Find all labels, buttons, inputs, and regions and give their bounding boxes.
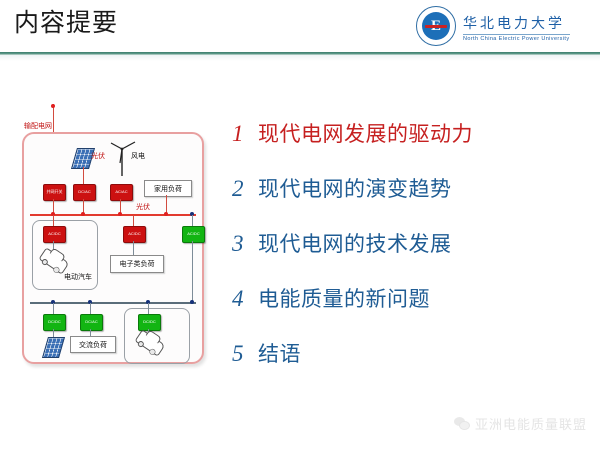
grid-feeder-node [51, 104, 55, 108]
ev-dc-uplink [148, 303, 149, 314]
agenda-label: 现代电网发展的驱动力 [258, 118, 473, 148]
agenda-label: 电能质量的新问题 [258, 283, 430, 313]
electronic-load-uplink [133, 215, 134, 226]
converter-dc-ac-load[interactable]: DC/AC [80, 314, 103, 331]
ev-label: 电动汽车 [64, 272, 92, 282]
converter-dc-dc-pv[interactable]: DC/DC [43, 314, 66, 331]
converter-ac-dc-tie[interactable]: AC/DC [182, 226, 205, 243]
agenda-label: 现代电网的演变趋势 [258, 173, 452, 203]
agenda-label: 结语 [258, 338, 301, 368]
electronic-load-box: 电子类负荷 [110, 255, 164, 273]
agenda-item-1[interactable]: 1 现代电网发展的驱动力 [232, 118, 562, 173]
agenda-label: 现代电网的技术发展 [258, 228, 452, 258]
university-name-en: North China Electric Power University [463, 34, 570, 42]
watermark-text: 亚洲电能质量联盟 [475, 414, 587, 433]
page-title: 内容提要 [14, 8, 118, 38]
agenda-item-2[interactable]: 2 现代电网的演变趋势 [232, 173, 562, 228]
home-load-box: 家用负荷 [144, 180, 192, 197]
watermark: 亚洲电能质量联盟 [454, 414, 587, 433]
pv-label-top: 光伏 [91, 151, 105, 161]
agenda-number: 5 [232, 341, 258, 367]
pv-dc-uplink [53, 303, 54, 314]
ac-bus-node [164, 212, 168, 216]
wind-label: 风电 [131, 151, 145, 161]
pv-label-bus: 光伏 [136, 202, 150, 212]
ac-load-wire [90, 329, 91, 336]
agenda-number: 4 [232, 286, 258, 312]
agenda-item-3[interactable]: 3 现代电网的技术发展 [232, 228, 562, 283]
ac-bus-node [81, 212, 85, 216]
university-name-block: 华北电力大学 North China Electric Power Univer… [463, 13, 570, 42]
dc-bus-node [190, 300, 194, 304]
pv-to-converter-wire [83, 167, 84, 184]
agenda-list: 1 现代电网发展的驱动力 2 现代电网的演变趋势 3 现代电网的技术发展 4 电… [232, 118, 562, 393]
ev-ac-uplink [53, 215, 54, 226]
emblem-red-bar [425, 25, 447, 28]
ac-dc-tie-downlink [192, 241, 193, 303]
university-emblem-icon: E [416, 6, 458, 48]
agenda-number: 3 [232, 231, 258, 257]
ac-load-box: 交流负荷 [70, 336, 116, 353]
microgrid-diagram: 输配电网 光伏 风电 并网开关 DC/AC AC/AC 家用负荷 光伏 AC/D… [18, 104, 214, 372]
grid-label: 输配电网 [24, 121, 52, 131]
agenda-number: 2 [232, 176, 258, 202]
pv-dc-wire [53, 329, 54, 337]
converter-ac-dc-electronic[interactable]: AC/DC [123, 226, 146, 243]
agenda-item-5[interactable]: 5 结语 [232, 338, 562, 393]
agenda-number: 1 [232, 121, 258, 147]
converter-grid-switch[interactable]: 并网开关 [43, 184, 66, 201]
converter-ac-dc-ev[interactable]: AC/DC [43, 226, 66, 243]
ac-dc-tie-uplink [192, 215, 193, 226]
converter-ac-ac-wind[interactable]: AC/AC [110, 184, 133, 201]
converter-dc-dc-ev[interactable]: DC/DC [138, 314, 161, 331]
header-divider-shadow [0, 55, 600, 61]
ac-bus-node [118, 212, 122, 216]
wechat-bubble-small [459, 421, 470, 431]
university-name-cn: 华北电力大学 [463, 13, 570, 33]
university-logo: E 华北电力大学 North China Electric Power Univ… [416, 4, 592, 50]
agenda-item-4[interactable]: 4 电能质量的新问题 [232, 283, 562, 338]
converter-dc-ac-pv[interactable]: DC/AC [73, 184, 96, 201]
ac-load-uplink [90, 303, 91, 314]
electronic-load-wire [133, 241, 134, 255]
wechat-icon [454, 417, 470, 430]
